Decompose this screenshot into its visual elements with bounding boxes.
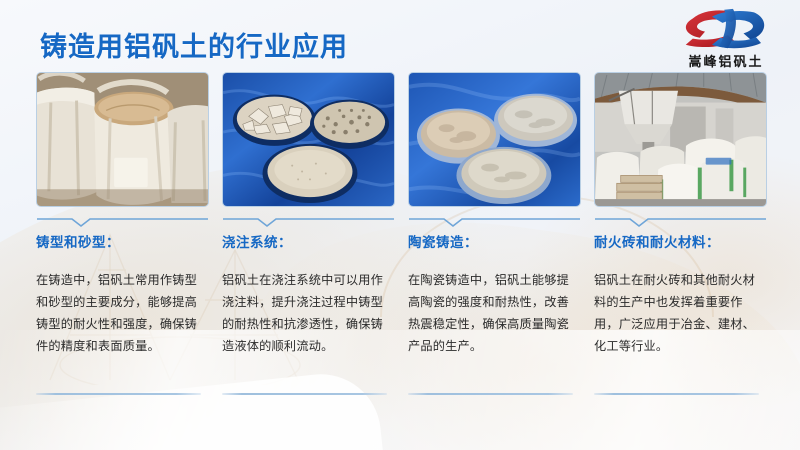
card-heading-3: 陶瓷铸造： — [408, 231, 581, 251]
card-pouring-system: 浇注系统： 铝矾土在浇注系统中可以用作浇注料，提升浇注过程中铸型的耐热性和抗渗透… — [222, 72, 395, 357]
card-bottom-rule-2 — [222, 393, 387, 395]
card-divider-3 — [408, 216, 581, 228]
card-divider-2 — [222, 216, 395, 228]
application-cards: 铸型和砂型： 在铸造中，铝矾土常用作铸型和砂型的主要成分，能够提高铸型的耐火性和… — [36, 72, 776, 357]
photo-granules-illustration — [223, 73, 394, 206]
card-bottom-rule-1 — [36, 393, 201, 395]
card-divider-1 — [36, 216, 209, 228]
page-title: 铸造用铝矾土的行业应用 — [40, 25, 348, 64]
card-bottom-rule-4 — [594, 393, 759, 395]
card-body-2: 铝矾土在浇注系统中可以用作浇注料，提升浇注过程中铸型的耐热性和抗渗透性，确保铸造… — [222, 269, 392, 357]
card-heading-4: 耐火砖和耐火材料： — [594, 231, 767, 251]
photo-powder-illustration — [409, 73, 580, 206]
card-body-1: 在铸造中，铝矾土常用作铸型和砂型的主要成分，能够提高铸型的耐火性和强度，确保铸件… — [36, 269, 206, 357]
brand-logo: 嵩峰铝矾土 — [672, 8, 780, 70]
photo-bulk-bags-illustration — [37, 73, 208, 206]
card-divider-4 — [594, 216, 767, 228]
card-photo-bulk-bags — [36, 72, 209, 207]
background-sheen-corner — [0, 368, 384, 450]
card-photo-warehouse-silo — [594, 72, 767, 207]
stylized-s-monogram-icon — [672, 8, 780, 50]
card-molding-and-sand-molds: 铸型和砂型： 在铸造中，铝矾土常用作铸型和砂型的主要成分，能够提高铸型的耐火性和… — [36, 72, 209, 357]
card-photo-three-bowls-granules — [222, 72, 395, 207]
brand-name: 嵩峰铝矾土 — [672, 51, 780, 70]
card-refractory-bricks-and-materials: 耐火砖和耐火材料： 铝矾土在耐火砖和其他耐火材料的生产中也发挥着重要作用，广泛应… — [594, 72, 767, 357]
card-photo-three-bowls-powder — [408, 72, 581, 207]
card-ceramic-casting: 陶瓷铸造： 在陶瓷铸造中，铝矾土能够提高陶瓷的强度和耐热性，改善热震稳定性，确保… — [408, 72, 581, 357]
card-bottom-rule-3 — [408, 393, 573, 395]
card-heading-2: 浇注系统： — [222, 231, 395, 251]
card-body-3: 在陶瓷铸造中，铝矾土能够提高陶瓷的强度和耐热性，改善热震稳定性，确保高质量陶瓷产… — [408, 269, 578, 357]
card-heading-1: 铸型和砂型： — [36, 231, 209, 251]
photo-warehouse-illustration — [595, 73, 766, 206]
poster-page: 铸造用铝矾土的行业应用 嵩峰铝矾土 — [0, 0, 800, 450]
card-body-4: 铝矾土在耐火砖和其他耐火材料的生产中也发挥着重要作用，广泛应用于冶金、建材、化工… — [594, 269, 764, 357]
